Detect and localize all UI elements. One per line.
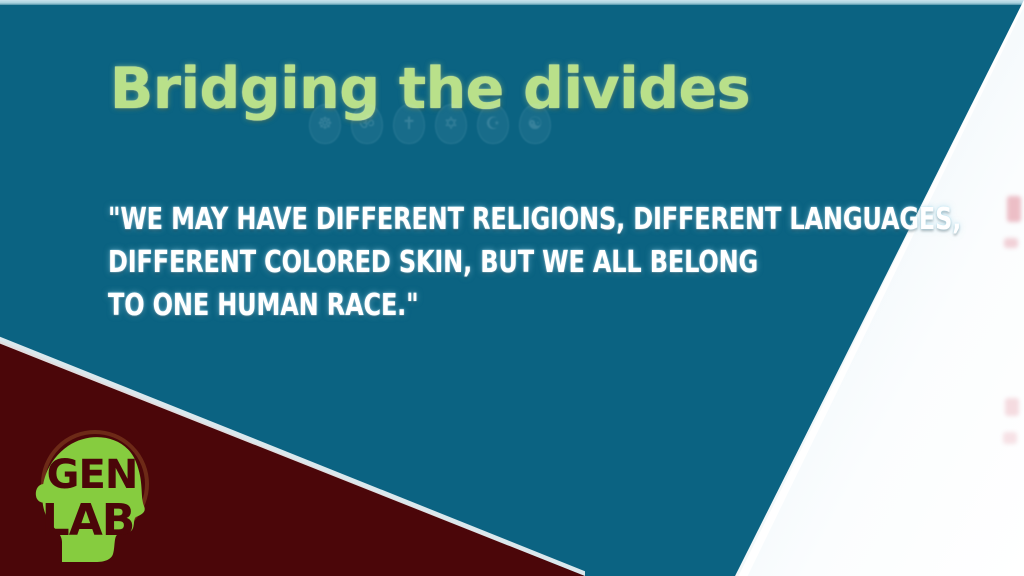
om-icon: ॐ	[351, 104, 383, 144]
star-of-david-icon: ✡	[435, 104, 467, 144]
dharma-wheel-icon: ☸	[309, 104, 341, 144]
logo-text-lab: LAB	[42, 495, 135, 546]
right-edge-artifact-4	[1003, 432, 1017, 444]
religious-symbols-row: ☸ ॐ ✝ ✡ ☪ ☯	[0, 104, 860, 144]
gen-lab-logo: GEN LAB	[22, 422, 168, 572]
quote-line-3: TO ONE HUMAN RACE."	[108, 284, 772, 327]
logo-text-gen: GEN	[47, 452, 138, 498]
right-edge-artifact-3	[1005, 398, 1019, 416]
quote-line-2: DIFFERENT COLORED SKIN, BUT WE ALL BELON…	[108, 241, 772, 284]
presentation-slide: Bridging the divides ☸ ॐ ✝ ✡ ☪ ☯ "WE MAY…	[0, 0, 1024, 576]
yin-yang-icon: ☯	[519, 104, 551, 144]
quote-block: "WE MAY HAVE DIFFERENT RELIGIONS, DIFFER…	[108, 198, 938, 327]
quote-line-1: "WE MAY HAVE DIFFERENT RELIGIONS, DIFFER…	[108, 198, 772, 241]
cross-icon: ✝	[393, 104, 425, 144]
star-and-crescent-icon: ☪	[477, 104, 509, 144]
right-edge-artifact-1	[1007, 196, 1021, 222]
top-edge-strip	[0, 0, 1024, 5]
right-edge-artifact-2	[1004, 238, 1018, 248]
